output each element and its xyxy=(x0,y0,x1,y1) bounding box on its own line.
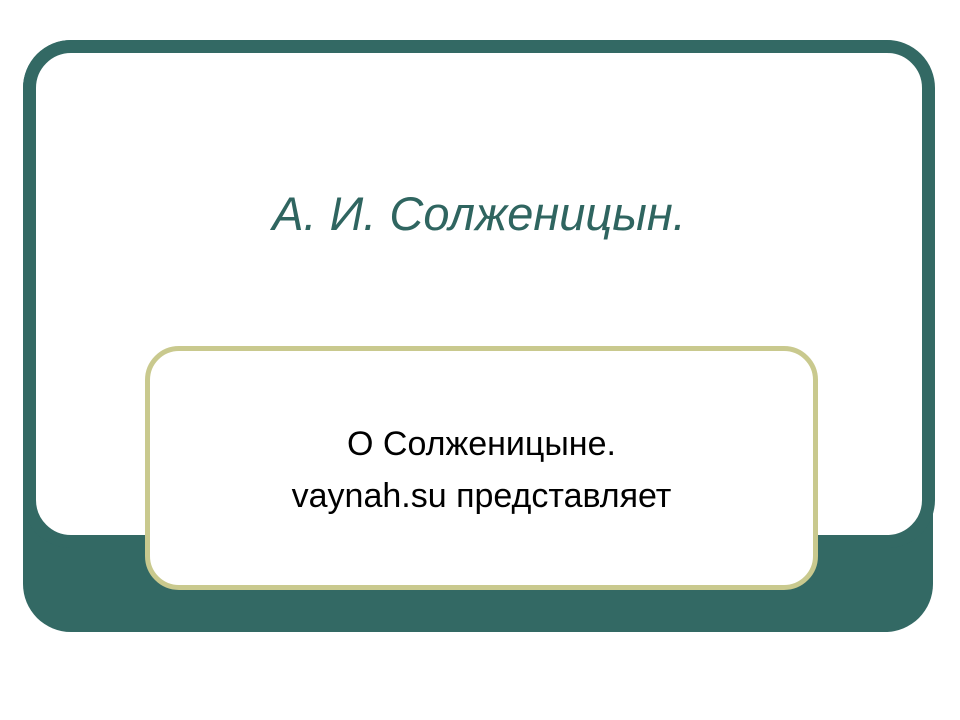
inner-content-box: О Солженицыне. vaynah.su представляет xyxy=(145,346,818,590)
slide-title: А. И. Солженицын. xyxy=(23,186,935,241)
inner-content-text: О Солженицыне. vaynah.su представляет xyxy=(150,419,813,522)
inner-text-line-2: vaynah.su представляет xyxy=(150,471,813,523)
slide-canvas: А. И. Солженицын. О Солженицыне. vaynah.… xyxy=(0,0,960,720)
inner-text-line-1: О Солженицыне. xyxy=(150,419,813,471)
